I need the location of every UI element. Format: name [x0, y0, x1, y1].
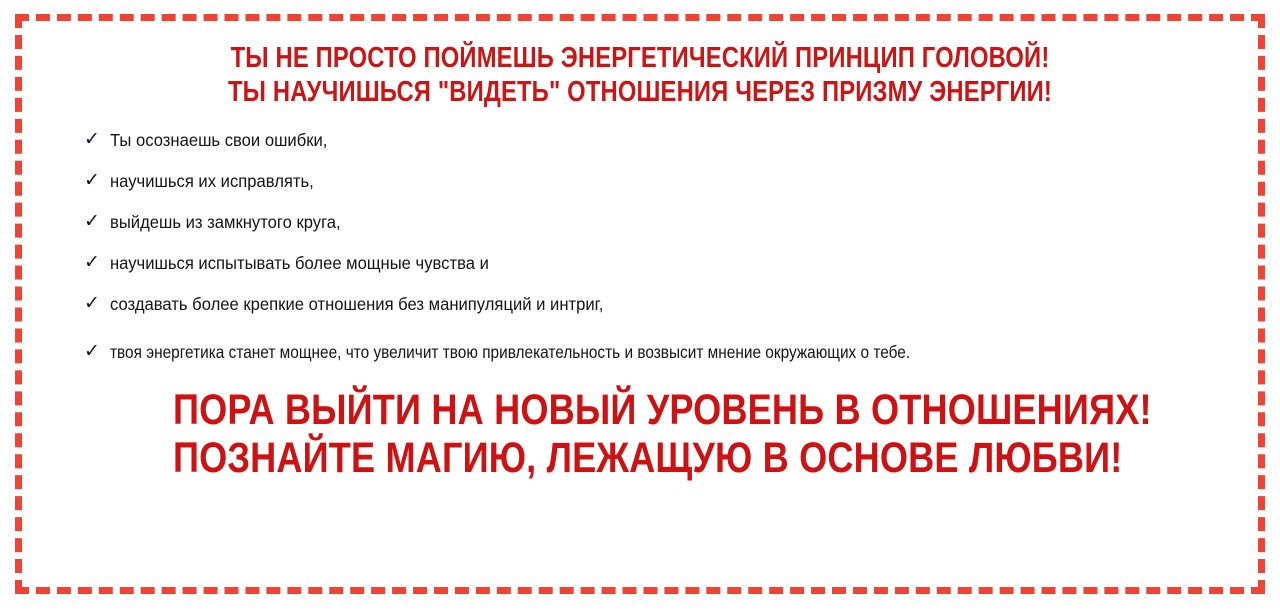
list-item: ✓ научишься испытывать более мощные чувс… [84, 252, 1196, 274]
check-mark-icon: ✓ [84, 334, 110, 370]
headline-line-2: ТЫ НАУЧИШЬСЯ "ВИДЕТЬ" ОТНОШЕНИЯ ЧЕРЕЗ ПР… [184, 78, 1096, 107]
list-item: ✓ Ты осознаешь свои ошибки, [84, 129, 1196, 151]
list-item-text: научишься их исправлять, [110, 170, 1142, 192]
check-mark-icon: ✓ [84, 252, 110, 274]
list-item: ✓ научишься их исправлять, [84, 170, 1196, 192]
list-item: ✓ создавать более крепкие отношения без … [84, 293, 1196, 315]
poster-content: ТЫ НЕ ПРОСТО ПОЙМЕШЬ ЭНЕРГЕТИЧЕСКИЙ ПРИН… [0, 0, 1280, 614]
headline: ТЫ НЕ ПРОСТО ПОЙМЕШЬ ЭНЕРГЕТИЧЕСКИЙ ПРИН… [184, 44, 1096, 107]
cta-line-2: ПОЗНАЙТЕ МАГИЮ, ЛЕЖАЩУЮ В ОСНОВЕ ЛЮБВИ! [173, 436, 1107, 481]
check-mark-icon: ✓ [84, 129, 110, 151]
list-item-text: Ты осознаешь свои ошибки, [110, 129, 1142, 151]
cta-line-1: ПОРА ВЫЙТИ НА НОВЫЙ УРОВЕНЬ В ОТНОШЕНИЯХ… [173, 388, 1107, 433]
list-item-text: твоя энергетика станет мощнее, что увели… [110, 334, 1066, 370]
list-item-text: научишься испытывать более мощные чувств… [110, 252, 1142, 274]
list-item: ✓ выйдешь из замкнутого круга, [84, 211, 1196, 233]
list-item: ✓ твоя энергетика станет мощнее, что уве… [84, 334, 1196, 370]
promo-poster: ТЫ НЕ ПРОСТО ПОЙМЕШЬ ЭНЕРГЕТИЧЕСКИЙ ПРИН… [0, 0, 1280, 614]
check-mark-icon: ✓ [84, 293, 110, 315]
check-mark-icon: ✓ [84, 211, 110, 233]
call-to-action: ПОРА ВЫЙТИ НА НОВЫЙ УРОВЕНЬ В ОТНОШЕНИЯХ… [173, 388, 1107, 481]
check-mark-icon: ✓ [84, 170, 110, 192]
list-item-text: выйдешь из замкнутого круга, [110, 211, 1142, 233]
headline-line-1: ТЫ НЕ ПРОСТО ПОЙМЕШЬ ЭНЕРГЕТИЧЕСКИЙ ПРИН… [184, 44, 1096, 73]
list-item-text: создавать более крепкие отношения без ма… [110, 293, 1142, 315]
benefits-checklist: ✓ Ты осознаешь свои ошибки, ✓ научишься … [84, 129, 1196, 370]
